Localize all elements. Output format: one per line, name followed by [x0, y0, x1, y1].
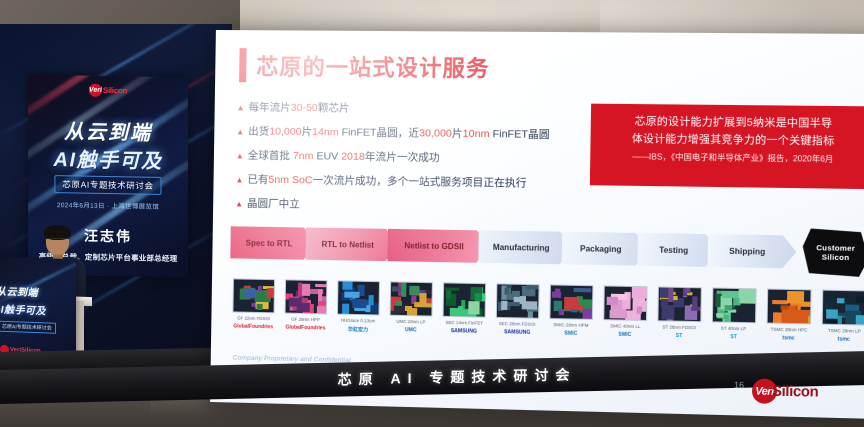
- bullet-item: ▲已有5nm SoC一次流片成功，多个一站式服务项目正在执行: [235, 174, 586, 191]
- foundry-logo: tsmc: [837, 336, 850, 342]
- flow-step-shipping[interactable]: Shipping: [707, 234, 796, 268]
- bullet-item: ▲出货10,000片14nm FinFET晶圆，近30,000片10nm Fin…: [236, 126, 587, 142]
- chip-gallery-item: SEC 14nm FinFETSAMSUNG: [437, 282, 491, 336]
- flow-step-label: RTL to Netlist: [321, 239, 383, 249]
- flow-step-label: Manufacturing: [493, 242, 559, 252]
- triangle-bullet-icon: ▲: [235, 198, 243, 210]
- foundry-logo: SAMSUNG: [451, 328, 477, 335]
- flow-step-netlist-to-gdsii[interactable]: Netlist to GDSII: [387, 229, 490, 263]
- triangle-bullet-icon: ▲: [236, 126, 244, 138]
- chip-label: SEC 28nm FDSOI: [499, 321, 536, 327]
- corner-logo-word: Silicon: [772, 383, 819, 401]
- chip-gallery-item: GF 28nm HPPGlobalFoundries: [279, 279, 332, 332]
- chip-die-thumbnail: [822, 290, 864, 326]
- poster-headline-1: 从云到端: [28, 115, 188, 147]
- chip-gallery-item: HHGrace 0.13um华虹宏力: [332, 280, 385, 333]
- slide-title-block: 芯原的一站式设计服务: [239, 48, 490, 84]
- flow-step-spec-to-rtl[interactable]: Spec to RTL: [230, 226, 317, 260]
- chip-die-thumbnail: [390, 281, 433, 316]
- foundry-logo: GlobalFoundries: [233, 323, 273, 330]
- poster-logo-word: Silicon: [103, 86, 127, 95]
- chip-gallery-item: UMC 28nm LPUMC: [384, 281, 438, 335]
- triangle-bullet-icon: ▲: [236, 150, 244, 162]
- chip-label: HHGrace 0.13um: [341, 318, 375, 324]
- foundry-logo: ST: [730, 334, 737, 340]
- chip-gallery-item: ST 28nm FDSOIST: [652, 286, 707, 340]
- chip-label: GF 22nm FDSOI: [237, 316, 270, 321]
- flow-step-rtl-to-netlist[interactable]: RTL to Netlist: [306, 228, 400, 262]
- chip-gallery-item: ST 40nm LPST: [706, 287, 762, 342]
- chip-die-thumbnail: [603, 285, 647, 321]
- poster-verisilicon-logo: Veri Silicon: [89, 84, 127, 98]
- poster-logo-mark: Veri: [89, 84, 102, 97]
- bullet-item: ▲全球首批 7nm EUV 2018年流片一次成功: [236, 150, 587, 167]
- chip-die-thumbnail: [337, 280, 380, 315]
- chip-label: SMIC 28nm HPM: [553, 322, 588, 328]
- chip-die-thumbnail: [232, 278, 275, 313]
- chip-gallery-item: SEC 28nm FDSOISAMSUNG: [490, 283, 544, 337]
- verisilicon-corner-logo: Veri Silicon: [752, 378, 819, 404]
- chip-label: GF 28nm HPP: [291, 317, 320, 322]
- chip-gallery-item: TSMC 28nm HPCtsmc: [761, 288, 817, 343]
- chip-label: ST 40nm LP: [721, 326, 747, 331]
- chip-gallery-item: SMIC 40nm LLSMIC: [598, 285, 653, 339]
- foundry-logo: UMC: [405, 327, 417, 333]
- quote-callout: 芯原的设计能力扩展到5纳米是中国半导 体设计能力增强其竞争力的一个关键指标 ——…: [590, 104, 864, 190]
- side-banner-headline-1: 从云到端: [0, 283, 38, 299]
- bullet-item: ▲每年流片30-50颗芯片: [237, 102, 588, 118]
- triangle-bullet-icon: ▲: [235, 174, 243, 186]
- chip-die-thumbnail: [767, 289, 812, 325]
- bullet-text: 全球首批 7nm EUV 2018年流片一次成功: [248, 150, 440, 164]
- poster-date-venue: 2024年6月13日 · 上海世博展览馆: [28, 199, 188, 212]
- chip-label: SEC 14nm FinFET: [445, 320, 483, 326]
- callout-source: ——IBS，《中国电子和半导体产业》报告，2020年6月: [603, 151, 864, 166]
- title-accent-bar: [239, 48, 247, 82]
- chip-label: SMIC 40nm LL: [610, 323, 640, 328]
- chip-die-thumbnail: [549, 284, 593, 319]
- chip-label: ST 28nm FDSOI: [662, 325, 696, 331]
- bullet-text: 已有5nm SoC一次流片成功，多个一站式服务项目正在执行: [247, 174, 526, 190]
- poster-headline-2: AI触手可及: [28, 143, 188, 175]
- bullet-item: ▲晶圆厂中立: [235, 198, 586, 215]
- foundry-logo: SMIC: [564, 331, 577, 337]
- chip-die-thumbnail: [496, 283, 540, 318]
- chip-label: UMC 28nm LP: [396, 319, 425, 324]
- bullet-text: 每年流片30-50颗芯片: [248, 102, 349, 115]
- side-banner-event-pill: 芯原AI专题技术研讨会: [0, 321, 56, 334]
- foundry-logo: tsmc: [782, 335, 794, 341]
- chip-gallery-item: SMIC 28nm HPMSMIC: [544, 284, 599, 338]
- foundry-logo: SAMSUNG: [504, 329, 530, 336]
- page-title: 芯原的一站式设计服务: [256, 49, 490, 83]
- chip-label: TSMC 28nm LP: [827, 328, 860, 334]
- flow-step-manufacturing[interactable]: Manufacturing: [478, 230, 573, 264]
- chip-gallery-item: GF 22nm FDSOIGlobalFoundries: [227, 278, 280, 331]
- chip-die-thumbnail: [657, 286, 702, 322]
- foundry-logo: ST: [676, 333, 683, 339]
- process-flow: Customer Silicon Spec to RTLRTL to Netli…: [230, 226, 864, 269]
- stage-banner-text: 芯原 AI 专题技术研讨会: [338, 364, 577, 389]
- chip-die-thumbnail: [712, 287, 757, 323]
- bullet-text: 出货10,000片14nm FinFET晶圆，近30,000片10nm FinF…: [248, 126, 550, 141]
- customer-silicon-node: Customer Silicon: [802, 228, 864, 277]
- slide-page-number: 16: [734, 380, 744, 390]
- chip-die-thumbnail: [443, 282, 487, 317]
- customer-silicon-line-2: Silicon: [822, 252, 850, 262]
- foundry-logo: GlobalFoundries: [285, 325, 325, 332]
- flow-step-label: Netlist to GDSII: [404, 241, 473, 251]
- triangle-bullet-icon: ▲: [237, 102, 245, 114]
- foundry-logo: 华虹宏力: [348, 326, 368, 333]
- side-banner-headline-2: AI触手可及: [0, 301, 46, 318]
- bullet-text: 晶圆厂中立: [247, 199, 300, 211]
- chip-label: TSMC 28nm HPC: [770, 327, 807, 333]
- callout-line-2: 体设计能力增强其竞争力的一个关键指标: [603, 130, 864, 150]
- chip-gallery: GF 22nm FDSOIGlobalFoundriesGF 28nm HPPG…: [227, 278, 864, 344]
- poster-event-pill: 芯原AI专题技术研讨会: [54, 175, 161, 195]
- flow-step-testing[interactable]: Testing: [637, 233, 719, 267]
- flow-step-label: Testing: [659, 245, 698, 255]
- foundry-logo: SMIC: [618, 332, 631, 338]
- flow-step-label: Packaging: [580, 244, 631, 254]
- chip-gallery-item: TSMC 28nm LPtsmc: [816, 289, 864, 344]
- bullet-list: ▲每年流片30-50颗芯片▲出货10,000片14nm FinFET晶圆，近30…: [235, 102, 588, 228]
- flow-step-packaging[interactable]: Packaging: [562, 232, 650, 266]
- flow-step-label: Spec to RTL: [246, 238, 302, 248]
- flow-step-label: Shipping: [729, 246, 775, 256]
- chip-die-thumbnail: [285, 279, 328, 314]
